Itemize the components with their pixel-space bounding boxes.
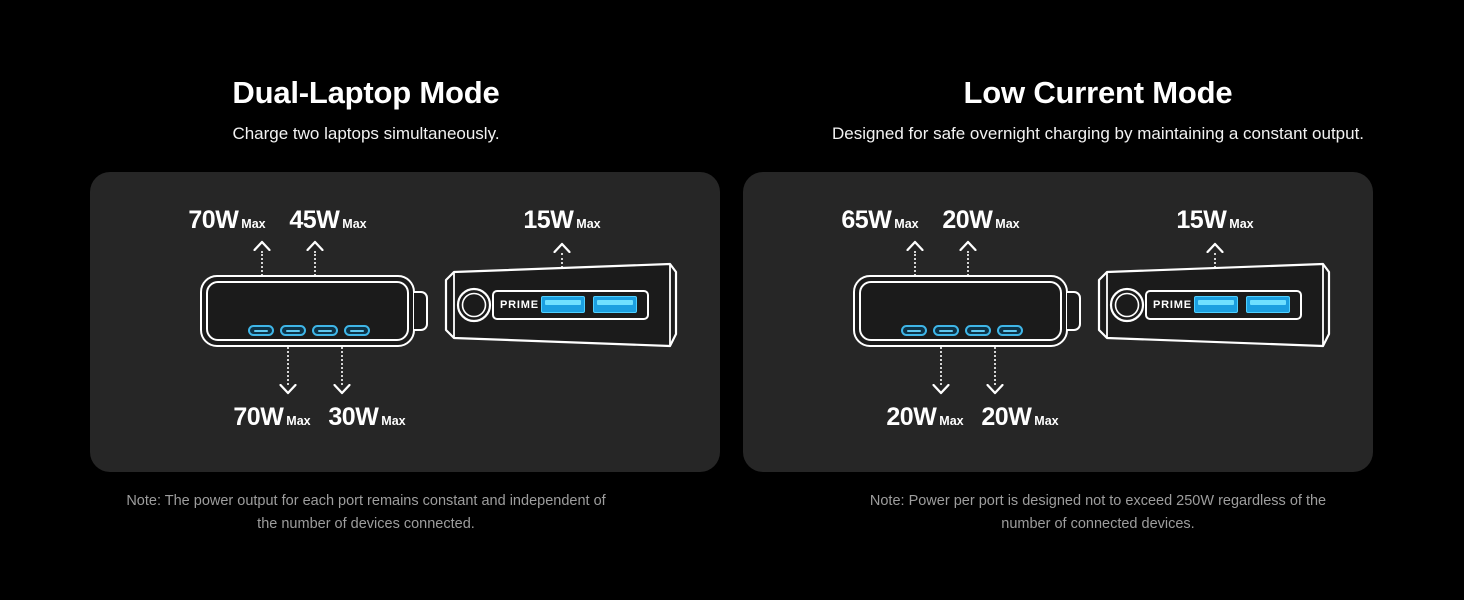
usb-c-port-3[interactable]: [965, 325, 991, 336]
arrow-down-port3-icon: [933, 384, 950, 395]
usb-c-port-4[interactable]: [344, 325, 370, 336]
arrow-up-port2-icon: [307, 240, 324, 251]
arrow-up-port1-icon: [907, 240, 924, 251]
usb-a-port-1[interactable]: [1194, 296, 1238, 313]
arrow-up-usba-icon: [554, 242, 571, 253]
arrow-up-usba-icon: [1207, 242, 1224, 253]
usb-c-port-2[interactable]: [933, 325, 959, 336]
arrow-down-port4-icon: [987, 384, 1004, 395]
arrow-down-port4-icon: [334, 384, 351, 395]
page-title: Dual-Laptop Mode: [0, 75, 732, 111]
panel-dual-laptop-mode: Dual-Laptop Mode Charge two laptops simu…: [0, 0, 732, 600]
usb-a-port-2[interactable]: [593, 296, 637, 313]
usb-c-port-2[interactable]: [280, 325, 306, 336]
power-bank-front: [200, 275, 415, 347]
label-port2-top: 45WMax: [289, 206, 366, 235]
label-port1-top: 70WMax: [188, 206, 265, 235]
side-tab: [1067, 291, 1081, 331]
label-usba-group: 15WMax: [1176, 206, 1253, 235]
arrow-down-port3-icon: [280, 384, 297, 395]
infographic-stage: Dual-Laptop Mode Charge two laptops simu…: [0, 0, 1464, 600]
usb-c-port-1[interactable]: [248, 325, 274, 336]
illustration-card: 70WMax 45WMax: [90, 172, 720, 472]
illustration-card: 65WMax 20WMax: [743, 172, 1373, 472]
brand-label: PRIME: [1153, 299, 1192, 311]
arrow-up-port1-icon: [254, 240, 271, 251]
label-port4-bottom: 20WMax: [981, 403, 1058, 432]
page-subtitle: Charge two laptops simultaneously.: [0, 124, 732, 144]
label-port1-top: 65WMax: [841, 206, 918, 235]
label-port4-bottom: 30WMax: [328, 403, 405, 432]
leader-port4-down: [341, 347, 343, 385]
power-bank-front: [853, 275, 1068, 347]
page-subtitle: Designed for safe overnight charging by …: [732, 124, 1464, 144]
arrow-up-port2-icon: [960, 240, 977, 251]
leader-port4-down: [994, 347, 996, 385]
page-title: Low Current Mode: [732, 75, 1464, 111]
label-port2-top: 20WMax: [942, 206, 1019, 235]
panel-note: Note: The power output for each port rem…: [0, 490, 732, 536]
brand-label: PRIME: [500, 299, 539, 311]
panel-low-current-mode: Low Current Mode Designed for safe overn…: [732, 0, 1464, 600]
label-port3-bottom: 70WMax: [233, 403, 310, 432]
panel-note: Note: Power per port is designed not to …: [732, 490, 1464, 536]
usb-c-port-1[interactable]: [901, 325, 927, 336]
leader-port3-down: [287, 347, 289, 385]
usb-a-port-1[interactable]: [541, 296, 585, 313]
label-usba-group: 15WMax: [523, 206, 600, 235]
power-bank-perspective: PRIME: [1091, 256, 1337, 354]
power-bank-perspective: PRIME: [438, 256, 684, 354]
leader-port3-down: [940, 347, 942, 385]
side-tab: [414, 291, 428, 331]
label-port3-bottom: 20WMax: [886, 403, 963, 432]
usb-c-port-3[interactable]: [312, 325, 338, 336]
usb-a-port-2[interactable]: [1246, 296, 1290, 313]
usb-c-port-4[interactable]: [997, 325, 1023, 336]
